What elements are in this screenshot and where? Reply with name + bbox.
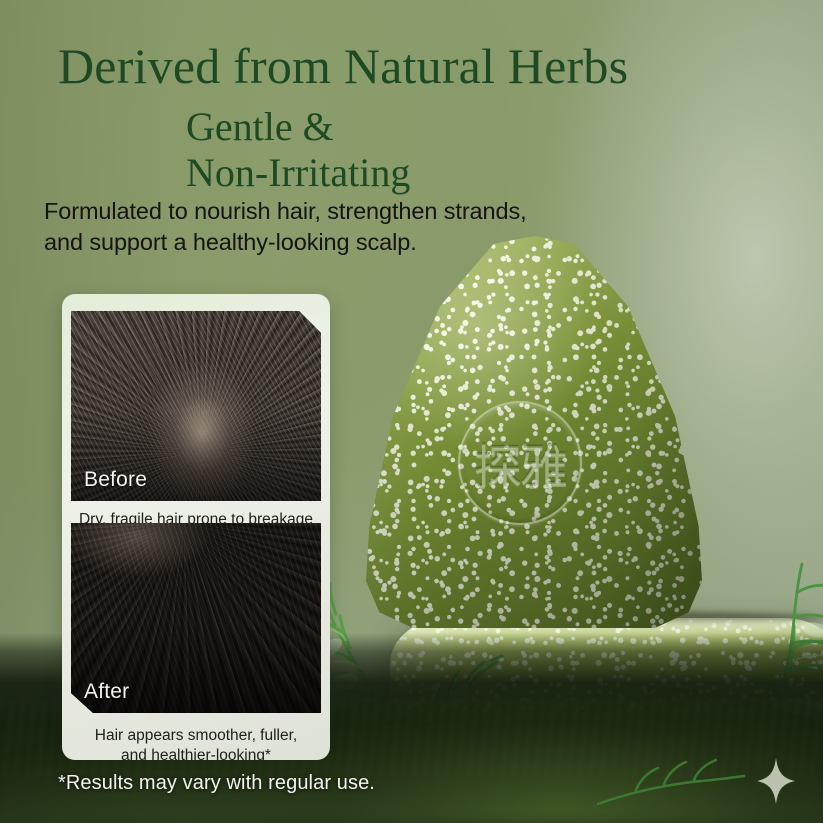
- before-after-card: Before Dry, fragile hair prone to breaka…: [62, 294, 330, 760]
- after-caption-line-2: and healthier-looking*: [62, 746, 330, 760]
- after-label: After: [84, 680, 129, 704]
- disclaimer-text: *Results may vary with regular use.: [58, 772, 375, 795]
- promo-image-stage: 探雅: [0, 0, 823, 823]
- after-photo: After: [71, 523, 321, 713]
- cedar-sprig-icon: [596, 742, 746, 812]
- subheading-line-1: Gentle &: [186, 104, 334, 149]
- after-caption-line-1: Hair appears smoother, fuller,: [62, 726, 330, 746]
- page-title: Derived from Natural Herbs: [58, 40, 798, 92]
- body-copy-line-2: and support a healthy-looking scalp.: [44, 227, 527, 258]
- before-label: Before: [84, 468, 147, 492]
- sparkle-icon: [756, 758, 796, 804]
- brand-emblem-icon: 探雅: [458, 401, 582, 525]
- body-copy: Formulated to nourish hair, strengthen s…: [44, 196, 527, 257]
- subheading: Gentle & Non-Irritating: [186, 104, 410, 195]
- body-copy-line-1: Formulated to nourish hair, strengthen s…: [44, 196, 527, 227]
- before-photo: Before: [71, 311, 321, 501]
- after-caption: Hair appears smoother, fuller, and healt…: [62, 726, 330, 760]
- subheading-line-2: Non-Irritating: [186, 150, 410, 196]
